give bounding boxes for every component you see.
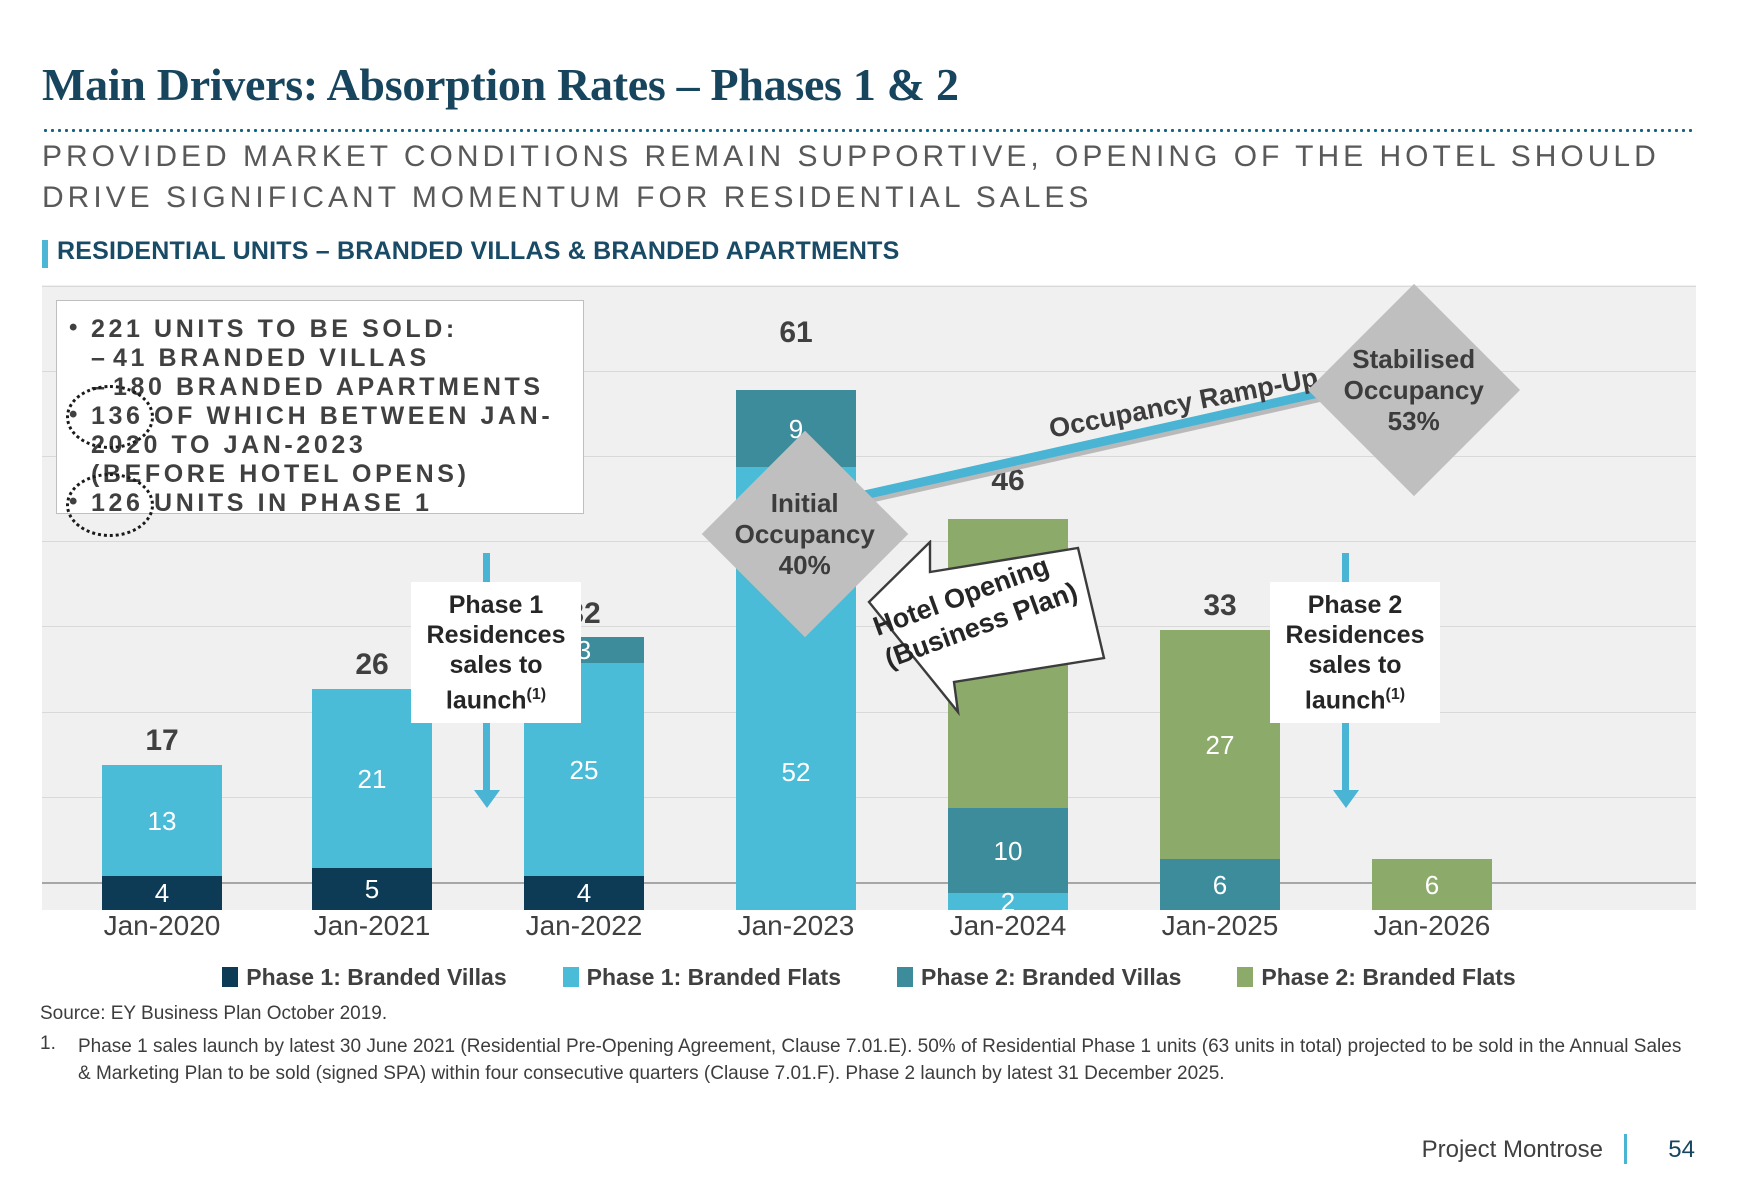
highlight-ellipse-126 xyxy=(66,473,154,537)
list-item: (BEFORE HOTEL OPENS) xyxy=(91,460,573,489)
phase1-flag-line2: Residences xyxy=(423,620,569,650)
segment-value: 4 xyxy=(577,880,591,906)
bar-segment-phase2-flats: 27 xyxy=(1160,630,1280,859)
bar-total-label: 33 xyxy=(1160,589,1280,623)
phase2-flag-line2: Residences xyxy=(1282,620,1428,650)
legend-label: Phase 1: Branded Villas xyxy=(246,964,506,991)
legend-item-phase1-villas: Phase 1: Branded Villas xyxy=(222,964,506,991)
stabilised-occupancy-line1: Stabilised xyxy=(1344,343,1484,374)
bar-segment-phase1-flats: 2 xyxy=(948,893,1068,910)
segment-value: 27 xyxy=(1206,732,1235,758)
x-tick-label: Jan-2023 xyxy=(716,910,876,942)
footer-project-name: Project Montrose xyxy=(1422,1136,1603,1164)
footer-separator xyxy=(1624,1134,1627,1164)
stabilised-occupancy-text: Stabilised Occupancy 53% xyxy=(1344,343,1484,436)
phase2-flag-footnote-ref: (1) xyxy=(1386,686,1406,703)
legend-item-phase1-flats: Phase 1: Branded Flats xyxy=(563,964,841,991)
list-item: 41 BRANDED VILLAS xyxy=(91,344,573,373)
x-tick-label: Jan-2020 xyxy=(82,910,242,942)
x-axis-labels: Jan-2020 Jan-2021 Jan-2022 Jan-2023 Jan-… xyxy=(42,910,1696,956)
highlight-ellipse-136 xyxy=(66,385,154,449)
footer-page-number: 54 xyxy=(1668,1136,1695,1164)
x-tick-label: Jan-2022 xyxy=(504,910,664,942)
bar-total-label: 17 xyxy=(102,724,222,758)
phase2-flag-line3: sales to xyxy=(1282,650,1428,680)
title-divider xyxy=(42,128,1696,133)
list-item: 180 BRANDED APARTMENTS xyxy=(91,373,573,402)
page-title: Main Drivers: Absorption Rates – Phases … xyxy=(42,58,959,111)
phase2-flag-line1: Phase 2 xyxy=(1282,590,1428,620)
section-title: RESIDENTIAL UNITS – BRANDED VILLAS & BRA… xyxy=(57,237,900,266)
bar-total-label: 61 xyxy=(736,316,856,350)
phase1-flag-line1: Phase 1 xyxy=(423,590,569,620)
page-subtitle: PROVIDED MARKET CONDITIONS REMAIN SUPPOR… xyxy=(42,136,1682,218)
bar-segment-phase2-villas: 10 xyxy=(948,808,1068,893)
phase2-flag-arrowhead xyxy=(1333,790,1359,808)
phase1-launch-flag: Phase 1 Residences sales to launch(1) xyxy=(411,582,581,723)
stabilised-occupancy-line2: Occupancy xyxy=(1344,374,1484,405)
phase1-flag-line3: sales to xyxy=(423,650,569,680)
chart-legend: Phase 1: Branded Villas Phase 1: Branded… xyxy=(42,958,1696,996)
source-note: Source: EY Business Plan October 2019. xyxy=(40,1003,387,1025)
footnote-number: 1. xyxy=(40,1033,56,1055)
bar-segment-phase1-villas: 4 xyxy=(524,876,644,910)
phase2-launch-flag: Phase 2 Residences sales to launch(1) xyxy=(1270,582,1440,723)
segment-value: 10 xyxy=(994,838,1023,864)
bar-segment-phase1-flats: 13 xyxy=(102,765,222,876)
footnote-text: Phase 1 sales launch by latest 30 June 2… xyxy=(78,1033,1698,1087)
bar-segment-phase1-villas: 5 xyxy=(312,868,432,910)
gridline xyxy=(42,286,1696,287)
initial-occupancy-line1: Initial xyxy=(735,487,875,518)
bar-total-label: 46 xyxy=(948,464,1068,498)
segment-value: 6 xyxy=(1425,872,1439,898)
legend-label: Phase 2: Branded Flats xyxy=(1261,964,1515,991)
segment-value: 5 xyxy=(365,876,379,902)
legend-swatch-icon xyxy=(1237,967,1253,987)
initial-occupancy-text: Initial Occupancy 40% xyxy=(735,487,875,580)
list-item: 221 UNITS TO BE SOLD: xyxy=(91,315,573,344)
legend-label: Phase 1: Branded Flats xyxy=(587,964,841,991)
x-tick-label: Jan-2024 xyxy=(928,910,1088,942)
phase1-flag-launch-text: launch xyxy=(446,686,527,714)
segment-value: 13 xyxy=(148,808,177,834)
x-tick-label: Jan-2025 xyxy=(1140,910,1300,942)
legend-swatch-icon xyxy=(563,967,579,987)
initial-occupancy-line2: Occupancy xyxy=(735,518,875,549)
x-tick-label: Jan-2021 xyxy=(292,910,452,942)
slide-root: Main Drivers: Absorption Rates – Phases … xyxy=(0,0,1737,1200)
initial-occupancy-line3: 40% xyxy=(735,549,875,580)
list-item: 126 UNITS IN PHASE 1 xyxy=(91,489,573,518)
list-item: 136 OF WHICH BETWEEN JAN- xyxy=(91,402,573,431)
legend-swatch-icon xyxy=(222,967,238,987)
phase1-flag-arrowhead xyxy=(474,790,500,808)
segment-value: 25 xyxy=(570,757,599,783)
phase2-flag-line4: launch(1) xyxy=(1282,680,1428,715)
x-tick-label: Jan-2026 xyxy=(1352,910,1512,942)
phase2-flag-launch-text: launch xyxy=(1305,686,1386,714)
bar-segment-phase2-villas: 6 xyxy=(1160,859,1280,910)
phase1-flag-footnote-ref: (1) xyxy=(527,686,547,703)
bar-segment-phase1-villas: 4 xyxy=(102,876,222,910)
phase1-flag-line4: launch(1) xyxy=(423,680,569,715)
segment-value: 52 xyxy=(782,759,811,785)
legend-label: Phase 2: Branded Villas xyxy=(921,964,1181,991)
list-item: 2020 TO JAN-2023 xyxy=(91,431,573,460)
bar-segment-phase2-flats: 6 xyxy=(1372,859,1492,910)
legend-item-phase2-villas: Phase 2: Branded Villas xyxy=(897,964,1181,991)
segment-value: 4 xyxy=(155,880,169,906)
segment-value: 6 xyxy=(1213,872,1227,898)
legend-item-phase2-flats: Phase 2: Branded Flats xyxy=(1237,964,1515,991)
stabilised-occupancy-line3: 53% xyxy=(1344,405,1484,436)
legend-swatch-icon xyxy=(897,967,913,987)
segment-value: 21 xyxy=(358,766,387,792)
section-accent-bar xyxy=(42,240,48,268)
